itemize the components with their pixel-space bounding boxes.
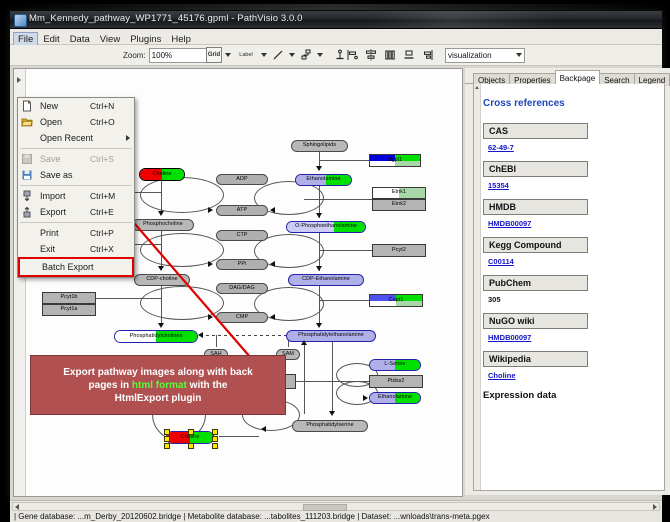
node-cept1[interactable]: Cept1 xyxy=(369,294,423,307)
menu-label: Save xyxy=(40,154,61,164)
edge-choline-right xyxy=(219,436,259,437)
menu-row-exit[interactable]: Exit Ctrl+X xyxy=(18,241,134,257)
xref-value-kegg[interactable]: C00114 xyxy=(488,257,661,266)
node-etnk1[interactable]: Etnk1 xyxy=(372,187,426,199)
menu-label: Print xyxy=(40,228,59,238)
banner-line-2b: with the xyxy=(187,380,228,391)
align-bottom-icon[interactable] xyxy=(401,47,417,63)
selection-handle-e[interactable] xyxy=(212,436,218,442)
expression-data-heading: Expression data xyxy=(483,390,661,401)
menu-item-file[interactable]: File xyxy=(13,32,38,46)
menu-row-save: Save Ctrl+S xyxy=(18,151,134,167)
banner-line-3: HtmlExport plugin xyxy=(115,392,202,405)
grid-button[interactable]: Grid xyxy=(206,47,222,63)
edge-ptde-down xyxy=(332,342,333,414)
menu-shortcut: Ctrl+E xyxy=(90,207,114,217)
xref-label-nugo: NuGO wiki xyxy=(483,313,588,329)
menu-label: Batch Export xyxy=(42,262,94,272)
xref-value-pubchem: 305 xyxy=(488,295,661,304)
xref-label-hmdb: HMDB xyxy=(483,199,588,215)
menu-separator xyxy=(20,185,132,186)
backpage-content: Cross references CAS 62-49-7 ChEBI 15354… xyxy=(473,84,665,491)
node-label: Ptdss2 xyxy=(387,379,404,384)
menu-bar[interactable]: FileEditDataViewPluginsHelp xyxy=(10,29,662,45)
banner-line-2a: pages in xyxy=(89,380,132,391)
menu-item-data[interactable]: Data xyxy=(65,32,95,46)
side-panel-tabs[interactable]: ObjectsPropertiesBackpageSearchLegend xyxy=(465,68,670,84)
menu-label: Open Recent xyxy=(40,133,93,143)
menu-row-open-recent[interactable]: Open Recent xyxy=(18,130,134,146)
align-left-icon[interactable] xyxy=(344,47,360,63)
menu-row-export[interactable]: Export Ctrl+E xyxy=(18,204,134,220)
arrow-to-ptdserine xyxy=(329,411,335,416)
label-button[interactable]: Label xyxy=(234,47,258,63)
visualization-select[interactable]: visualization xyxy=(445,48,525,63)
menu-shortcut: Ctrl+O xyxy=(90,117,115,127)
xref-label-wikipedia: Wikipedia xyxy=(483,351,588,367)
menu-item-edit[interactable]: Edit xyxy=(38,32,64,46)
node-label: Phosphatidylserine xyxy=(306,423,353,428)
xref-label-cas: CAS xyxy=(483,123,588,139)
menu-label: Import xyxy=(40,191,66,201)
interaction-dropdown-icon[interactable] xyxy=(317,53,323,57)
arrow-to-ptdserine-left xyxy=(261,426,266,432)
arrow-to-ethanolamine2 xyxy=(363,395,368,401)
title-bar-shine xyxy=(370,11,550,28)
node-label: Ethanolamine xyxy=(378,395,412,400)
label-dropdown-icon[interactable] xyxy=(261,53,267,57)
selection-handle-w[interactable] xyxy=(164,436,170,442)
edge-cept1-rail xyxy=(319,300,369,301)
screenshot-frame: Mm_Kennedy_pathway_WP1771_45176.gpml - P… xyxy=(0,0,670,509)
title-bar: Mm_Kennedy_pathway_WP1771_45176.gpml - P… xyxy=(10,11,662,29)
node-sgpl1[interactable]: Sgpl1 xyxy=(369,154,421,167)
visualization-value: visualization xyxy=(448,51,492,60)
xref-label-kegg: Kegg Compound xyxy=(483,237,588,253)
menu-row-save-as[interactable]: Save as xyxy=(18,167,134,183)
menu-shortcut: Ctrl+N xyxy=(90,101,114,111)
banner-line-2: pages in html format with the xyxy=(89,379,228,392)
menu-shortcut: Ctrl+M xyxy=(90,191,115,201)
menu-row-print[interactable]: Print Ctrl+P xyxy=(18,225,134,241)
selection-handle-nw[interactable] xyxy=(164,429,170,435)
menu-separator xyxy=(20,222,132,223)
save-as-icon xyxy=(21,169,33,181)
selection-handle-n[interactable] xyxy=(188,429,194,435)
zoom-value: 100% xyxy=(152,51,172,60)
node-phosphatidylserine[interactable]: Phosphatidylserine xyxy=(292,420,368,432)
scroll-right-icon[interactable] xyxy=(653,504,657,510)
arrow-to-ptdethanolamine xyxy=(316,323,322,328)
selection-handle-se[interactable] xyxy=(212,443,218,449)
xref-value-wikipedia[interactable]: Choline xyxy=(488,371,661,380)
scroll-left-icon[interactable] xyxy=(15,504,19,510)
node-ethanolamine-2[interactable]: Ethanolamine xyxy=(369,392,421,404)
menu-shortcut: Ctrl+P xyxy=(90,228,114,238)
menu-row-open[interactable]: Open Ctrl+O xyxy=(18,114,134,130)
menu-label: New xyxy=(40,101,58,111)
node-label: Choline xyxy=(181,435,200,440)
interaction-icon[interactable] xyxy=(298,47,314,63)
selection-handle-sw[interactable] xyxy=(164,443,170,449)
pathvisio-window: Mm_Kennedy_pathway_WP1771_45176.gpml - P… xyxy=(9,10,663,501)
xref-value-cas[interactable]: 62-49-7 xyxy=(488,143,661,152)
menu-item-plugins[interactable]: Plugins xyxy=(125,32,166,46)
menu-row-batch-export[interactable]: Batch Export xyxy=(18,257,134,277)
node-label: Cept1 xyxy=(389,298,404,303)
node-label: Sgpl1 xyxy=(388,158,402,163)
menu-separator xyxy=(20,148,132,149)
selection-handle-s[interactable] xyxy=(188,443,194,449)
menu-label: Exit xyxy=(40,244,55,254)
toolbar[interactable]: Zoom: 100% Grid Label xyxy=(10,45,662,66)
file-menu-dropdown[interactable]: New Ctrl+N Open Ctrl+O Open Recent xyxy=(17,97,135,278)
window-title: Mm_Kennedy_pathway_WP1771_45176.gpml - P… xyxy=(29,13,303,24)
submenu-arrow-icon xyxy=(126,135,130,141)
align-right-icon[interactable] xyxy=(420,47,436,63)
menu-shortcut: Ctrl+X xyxy=(90,244,114,254)
menu-label: Export xyxy=(40,207,66,217)
menu-row-import[interactable]: Import Ctrl+M xyxy=(18,188,134,204)
node-etnk2[interactable]: Etnk2 xyxy=(372,199,426,211)
arrow-to-cdpethanolamine xyxy=(316,266,322,271)
node-l-serine[interactable]: L-Serine xyxy=(369,359,421,371)
line-dropdown-icon[interactable] xyxy=(289,53,295,57)
window-body: Choline Phosphocholine CDP-choline Phosp… xyxy=(10,66,662,500)
cross-references-panel: Cross references CAS 62-49-7 ChEBI 15354… xyxy=(483,84,661,401)
node-label: Etnk1 xyxy=(392,190,406,195)
save-icon xyxy=(21,153,33,165)
xref-value-nugo[interactable]: HMDB00097 xyxy=(488,333,661,342)
cross-references-heading: Cross references xyxy=(483,98,661,109)
status-bar: | Gene database: ...m_Derby_20120602.bri… xyxy=(10,500,662,522)
arrow-to-ethanolamine xyxy=(316,166,322,171)
menu-item-view[interactable]: View xyxy=(95,32,125,46)
backpage-scrollbar[interactable] xyxy=(474,84,481,490)
arrow-to-ophosphoethanolamine xyxy=(316,213,322,218)
edge-pcyt2-rail xyxy=(319,250,372,251)
folder-open-icon xyxy=(21,116,33,128)
horizontal-scrollbar[interactable] xyxy=(12,502,660,511)
selection-handle-ne[interactable] xyxy=(212,429,218,435)
zoom-label: Zoom: xyxy=(123,51,146,60)
node-ptdss2[interactable]: Ptdss2 xyxy=(369,375,423,388)
distribute-icon[interactable] xyxy=(382,47,398,63)
scrollbar-thumb[interactable] xyxy=(303,504,347,511)
xref-label-pubchem: PubChem xyxy=(483,275,588,291)
side-panel: ObjectsPropertiesBackpageSearchLegend Cr… xyxy=(465,68,670,495)
menu-row-new[interactable]: New Ctrl+N xyxy=(18,98,134,114)
app-icon xyxy=(14,14,27,27)
export-icon xyxy=(21,206,33,218)
menu-label: Open xyxy=(40,117,62,127)
import-icon xyxy=(21,190,33,202)
node-label: Etnk2 xyxy=(392,202,406,207)
xref-value-hmdb[interactable]: HMDB00097 xyxy=(488,219,661,228)
xref-value-chebi[interactable]: 15354 xyxy=(488,181,661,190)
menu-shortcut: Ctrl+S xyxy=(90,154,114,164)
menu-item-help[interactable]: Help xyxy=(166,32,196,46)
tab-backpage[interactable]: Backpage xyxy=(555,70,601,84)
edge-sgpl1-rail xyxy=(319,160,369,161)
chevron-down-icon xyxy=(516,53,522,57)
status-text: | Gene database: ...m_Derby_20120602.bri… xyxy=(14,512,490,521)
scroll-up-icon[interactable] xyxy=(475,86,479,89)
node-label: Pcyt2 xyxy=(392,248,406,253)
menu-label: Save as xyxy=(40,170,73,180)
node-pcyt2[interactable]: Pcyt2 xyxy=(372,244,426,257)
annotation-banner: Export pathway images along with back pa… xyxy=(30,355,286,415)
align-vertical-icon[interactable] xyxy=(363,47,379,63)
banner-line-1: Export pathway images along with back xyxy=(63,366,253,379)
node-label: L-Serine xyxy=(384,362,405,367)
grid-dropdown-icon[interactable] xyxy=(225,53,231,57)
xref-label-chebi: ChEBI xyxy=(483,161,588,177)
banner-highlight: html format xyxy=(132,380,187,391)
new-document-icon xyxy=(21,100,33,112)
line-icon[interactable] xyxy=(270,47,286,63)
